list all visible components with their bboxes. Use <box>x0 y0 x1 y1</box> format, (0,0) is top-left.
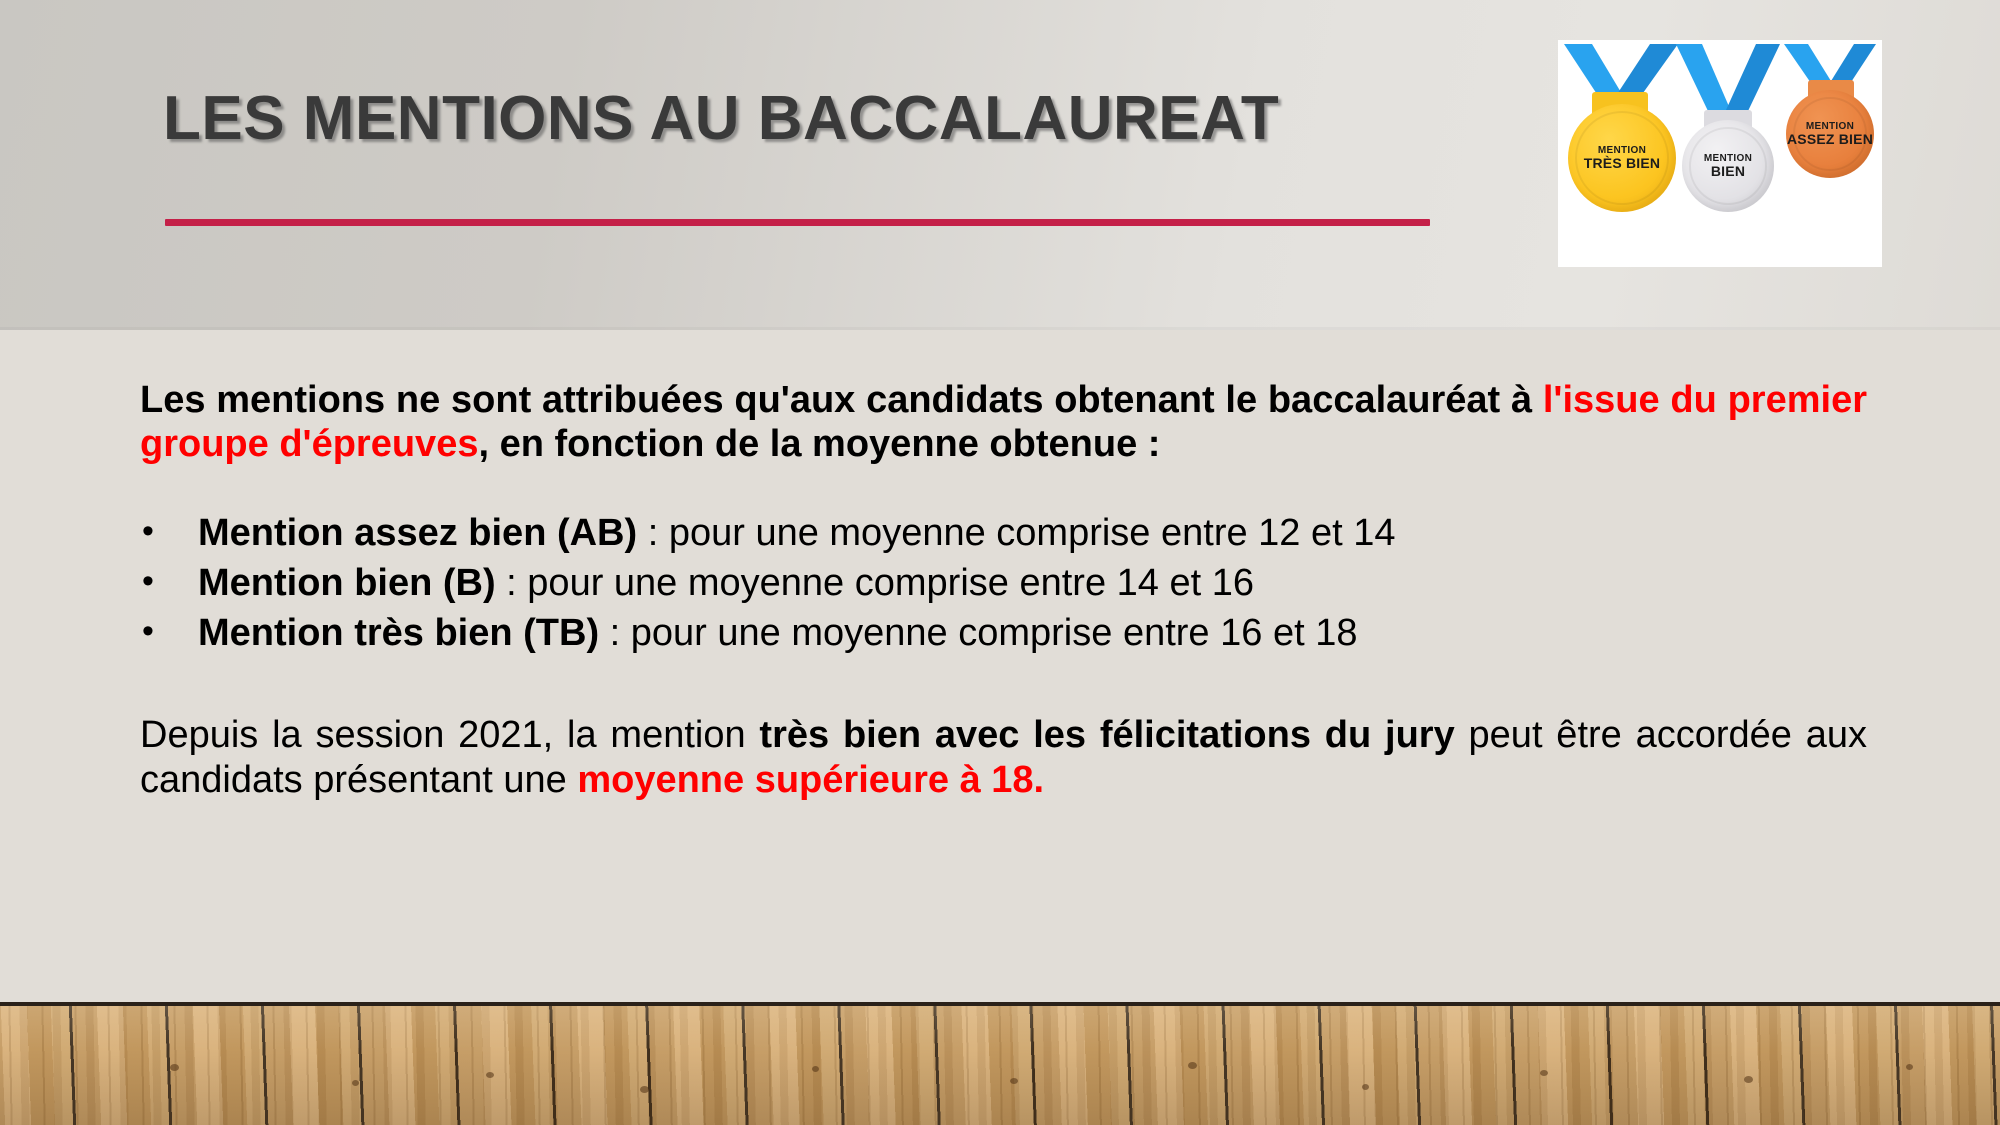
floor-shading <box>0 1006 2000 1125</box>
list-item: •Mention assez bien (AB) : pour une moye… <box>140 511 1867 555</box>
closing-highlight: moyenne supérieure à 18. <box>577 759 1044 801</box>
wooden-floor-decoration <box>0 1002 2000 1125</box>
closing-paragraph: Depuis la session 2021, la mention très … <box>140 713 1867 802</box>
closing-text-part1: Depuis la session 2021, la mention <box>140 714 759 756</box>
bullet-text: : pour une moyenne comprise entre 12 et … <box>637 512 1395 554</box>
plank-knot <box>170 1064 179 1071</box>
intro-text-part1: Les mentions ne sont attribuées qu'aux c… <box>140 379 1543 421</box>
list-item: •Mention bien (B) : pour une moyenne com… <box>140 561 1867 605</box>
bullet-marker-icon: • <box>142 512 154 551</box>
medal-silver-label-main: BIEN <box>1711 164 1745 179</box>
mention-bullet-list: •Mention assez bien (AB) : pour une moye… <box>140 511 1867 655</box>
bullet-marker-icon: • <box>142 562 154 601</box>
page-title: LES MENTIONS AU BACCALAUREAT <box>163 86 1483 151</box>
plank-knot <box>486 1072 494 1078</box>
plank-knot <box>1540 1070 1548 1076</box>
plank-knot <box>1906 1064 1913 1070</box>
plank-knot <box>1744 1076 1753 1083</box>
medals-illustration: MENTION TRÈS BIEN MENTION BIEN MENTION <box>1558 40 1882 267</box>
slide-body: Les mentions ne sont attribuées qu'aux c… <box>140 378 1867 802</box>
medal-gold-label-main: TRÈS BIEN <box>1584 156 1660 171</box>
bullet-text: : pour une moyenne comprise entre 14 et … <box>496 562 1254 604</box>
medal-bronze-label-main: ASSEZ BIEN <box>1787 132 1873 147</box>
slide: LES MENTIONS AU BACCALAUREAT <box>0 0 2000 1125</box>
bullet-text: : pour une moyenne comprise entre 16 et … <box>599 612 1357 654</box>
plank-knot <box>1362 1084 1369 1090</box>
medal-bronze-disc: MENTION ASSEZ BIEN <box>1786 90 1874 178</box>
spacer <box>140 661 1867 713</box>
bullet-label: Mention bien (B) <box>198 562 496 604</box>
medal-gold-disc: MENTION TRÈS BIEN <box>1568 104 1676 212</box>
plank-knot <box>1010 1078 1018 1084</box>
plank-knot <box>352 1080 359 1086</box>
closing-bold: très bien avec les félicitations du jury <box>759 714 1454 756</box>
plank-knot <box>1188 1062 1197 1069</box>
plank-knot <box>812 1066 819 1072</box>
bullet-label: Mention très bien (TB) <box>198 612 599 654</box>
medal-stage: MENTION TRÈS BIEN MENTION BIEN MENTION <box>1558 40 1882 267</box>
bullet-marker-icon: • <box>142 612 154 651</box>
spacer <box>140 467 1867 511</box>
plank-knot <box>640 1086 649 1093</box>
title-underline-rule <box>165 219 1430 226</box>
medal-silver-disc: MENTION BIEN <box>1682 120 1774 212</box>
intro-paragraph: Les mentions ne sont attribuées qu'aux c… <box>140 378 1867 467</box>
list-item: •Mention très bien (TB) : pour une moyen… <box>140 611 1867 655</box>
bullet-label: Mention assez bien (AB) <box>198 512 637 554</box>
intro-text-part2: , en fonction de la moyenne obtenue : <box>478 423 1160 465</box>
